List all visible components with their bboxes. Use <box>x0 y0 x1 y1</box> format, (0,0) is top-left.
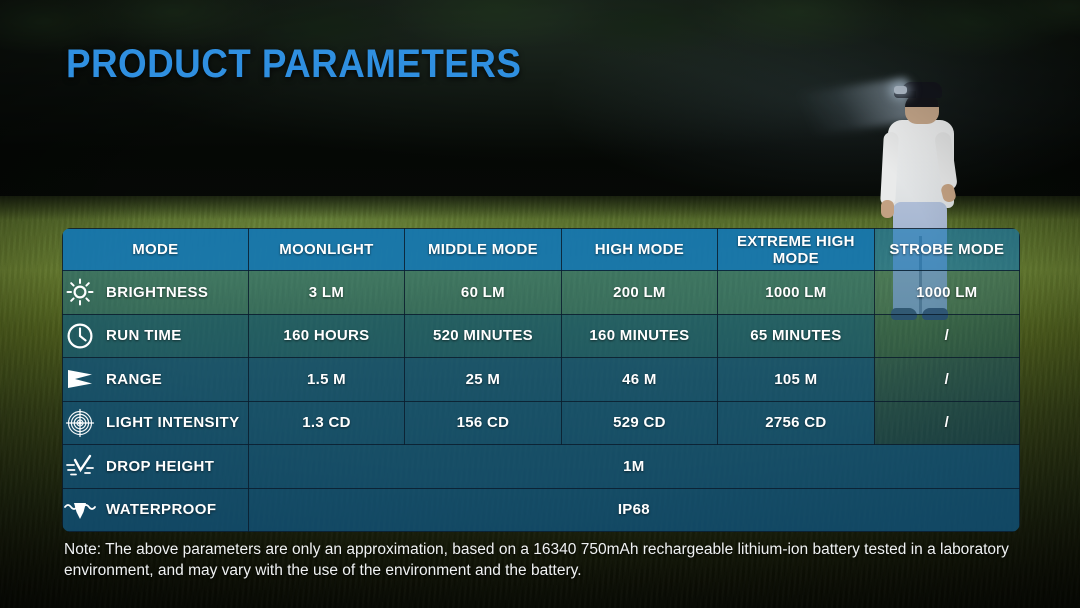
table-header-row: MODE MOONLIGHT MIDDLE MODE HIGH MODE EXT… <box>63 229 1020 271</box>
table-row-light-intensity: LIGHT INTENSITY 1.3 CD 156 CD 529 CD 275… <box>63 401 1020 445</box>
cell-range-middle: 25 M <box>405 358 561 402</box>
column-header-middle-mode: MIDDLE MODE <box>405 229 561 271</box>
cell-brightness-strobe: 1000 LM <box>874 271 1019 315</box>
row-label-text: LIGHT INTENSITY <box>106 414 240 431</box>
row-label-text: RUN TIME <box>106 327 182 344</box>
table-row-run-time: RUN TIME 160 HOURS 520 MINUTES 160 MINUT… <box>63 314 1020 358</box>
cell-run-time-moonlight: 160 HOURS <box>248 314 404 358</box>
cell-light-intensity-middle: 156 CD <box>405 401 561 445</box>
clock-icon <box>63 321 97 351</box>
impact-drop-icon <box>63 451 97 481</box>
slide-canvas: PRODUCT PARAMETERS MODE MOONLIGHT MIDDLE… <box>0 0 1080 608</box>
sun-icon <box>63 277 97 307</box>
cell-range-moonlight: 1.5 M <box>248 358 404 402</box>
cell-waterproof-all-modes: IP68 <box>248 488 1019 532</box>
cell-run-time-middle: 520 MINUTES <box>405 314 561 358</box>
row-label-cell-light-intensity: LIGHT INTENSITY <box>63 401 249 445</box>
row-label-text: DROP HEIGHT <box>106 458 214 475</box>
row-label-text: RANGE <box>106 371 162 388</box>
person-left-hand <box>881 200 894 218</box>
row-label-cell-brightness: BRIGHTNESS <box>63 271 249 315</box>
cell-drop-height-all-modes: 1M <box>248 445 1019 489</box>
cell-brightness-moonlight: 3 LM <box>248 271 404 315</box>
cell-run-time-extreme-high: 65 MINUTES <box>718 314 874 358</box>
column-header-mode: MODE <box>63 229 249 271</box>
cell-run-time-high: 160 MINUTES <box>561 314 717 358</box>
cell-brightness-extreme-high: 1000 LM <box>718 271 874 315</box>
footnote-text: Note: The above parameters are only an a… <box>64 540 1039 582</box>
headlamp-icon <box>894 86 907 94</box>
table-row-drop-height: DROP HEIGHT 1M <box>63 445 1020 489</box>
cell-range-strobe: / <box>874 358 1019 402</box>
cell-light-intensity-strobe: / <box>874 401 1019 445</box>
row-label-cell-drop-height: DROP HEIGHT <box>63 445 249 489</box>
table-row-range: RANGE 1.5 M 25 M 46 M 105 M / <box>63 358 1020 402</box>
cell-light-intensity-high: 529 CD <box>561 401 717 445</box>
product-parameters-table: MODE MOONLIGHT MIDDLE MODE HIGH MODE EXT… <box>62 228 1020 532</box>
column-header-high-mode: HIGH MODE <box>561 229 717 271</box>
row-label-cell-run-time: RUN TIME <box>63 314 249 358</box>
page-title: PRODUCT PARAMETERS <box>66 44 521 84</box>
row-label-cell-range: RANGE <box>63 358 249 402</box>
cell-light-intensity-moonlight: 1.3 CD <box>248 401 404 445</box>
cell-brightness-middle: 60 LM <box>405 271 561 315</box>
cell-light-intensity-extreme-high: 2756 CD <box>718 401 874 445</box>
cell-run-time-strobe: / <box>874 314 1019 358</box>
column-header-moonlight: MOONLIGHT <box>248 229 404 271</box>
column-header-extreme-high-mode: EXTREME HIGH MODE <box>718 229 874 271</box>
row-label-cell-waterproof: WATERPROOF <box>63 488 249 532</box>
beam-range-icon <box>63 364 97 394</box>
cell-range-extreme-high: 105 M <box>718 358 874 402</box>
table-row-brightness: BRIGHTNESS 3 LM 60 LM 200 LM 1000 LM 100… <box>63 271 1020 315</box>
row-label-text: WATERPROOF <box>106 501 216 518</box>
target-radar-icon <box>63 408 97 438</box>
column-header-strobe-mode: STROBE MODE <box>874 229 1019 271</box>
cell-range-high: 46 M <box>561 358 717 402</box>
waterproof-droplet-icon <box>63 495 97 525</box>
cell-brightness-high: 200 LM <box>561 271 717 315</box>
table-row-waterproof: WATERPROOF IP68 <box>63 488 1020 532</box>
row-label-text: BRIGHTNESS <box>106 284 208 301</box>
